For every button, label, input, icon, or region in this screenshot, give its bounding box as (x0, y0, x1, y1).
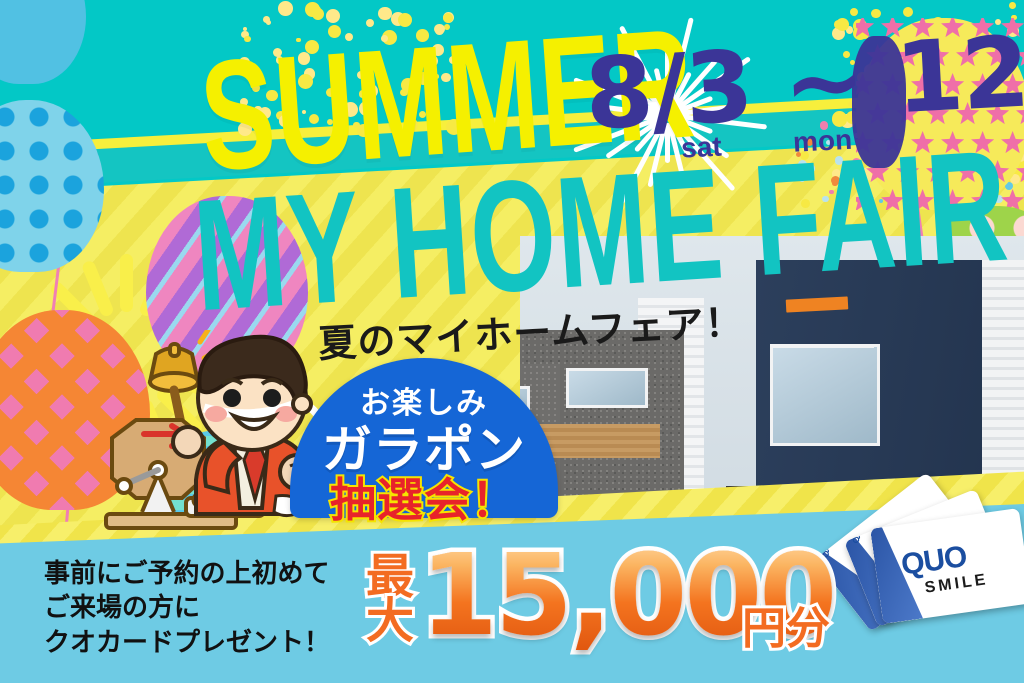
offer-copy-line-1: 事前にご予約の上初めて (44, 556, 330, 590)
mascot-eye-right (263, 389, 281, 407)
event-date-block: 8/3 ~ 12 sat mon (583, 26, 1024, 142)
badge-line-chusenkai: 抽選会！ (290, 464, 558, 530)
mascot-eye-left (223, 389, 241, 407)
lottery-badge: お楽しみ ガラポン 抽選会！ (290, 358, 558, 518)
offer-copy-line-3: クオカードプレゼント！ (44, 625, 330, 659)
quo-card-front: QUO SMILE (870, 508, 1024, 624)
offer-copy-line-2: ご来場の方に (44, 590, 330, 624)
mascot-cheek-left (205, 406, 227, 422)
mascot-hand-left (173, 427, 203, 457)
offer-amount-unit: 円分 (742, 592, 830, 656)
event-date-start-day: sat (680, 131, 722, 165)
offer-copy-block: 事前にご予約の上初めて ご来場の方に クオカードプレゼント！ (44, 556, 330, 659)
offer-max-label: 最大 (360, 556, 420, 644)
event-date-end-day: mon (792, 124, 853, 159)
promotional-banner: SUMMER MY HOME FAIR 夏のマイホームフェア！ 8/3 ~ 12… (0, 0, 1024, 683)
